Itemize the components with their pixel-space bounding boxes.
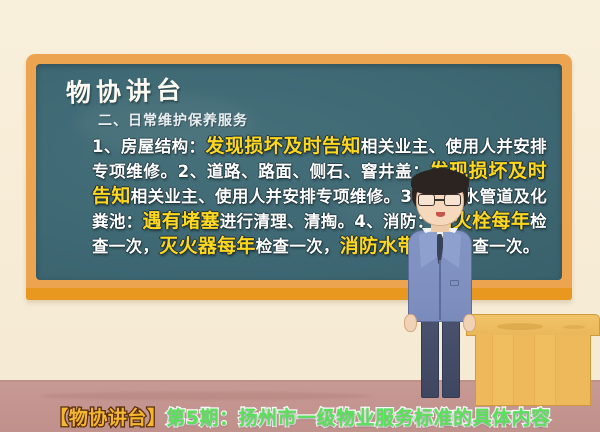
board-text-normal: 检查一次， [256, 237, 340, 256]
board-heading: 物协讲台 [66, 70, 187, 109]
presenter-left-hand [404, 314, 417, 332]
video-frame: 物协讲台 二、日常维护保养服务 1、房屋结构：发现损坏及时告知相关业主、使用人并… [0, 0, 600, 432]
board-text-emphasis: 遇有堵塞 [142, 210, 219, 232]
floor-shadow [40, 392, 370, 400]
presenter-jacket-pocket [450, 280, 459, 286]
presenter-mouth [436, 212, 445, 217]
caption-episode-title: 第5期：扬州市一级物业服务标准的具体内容 [166, 407, 550, 429]
podium-wood-grain [497, 323, 543, 330]
presenter-left-leg [421, 318, 439, 398]
presenter-glasses-right-lens [444, 194, 461, 206]
presenter-figure [392, 168, 488, 398]
board-text-normal: 1、房屋结构： [92, 137, 205, 156]
podium-front-panel [475, 335, 591, 406]
blackboard-frame: 物协讲台 二、日常维护保养服务 1、房屋结构：发现损坏及时告知相关业主、使用人并… [26, 54, 572, 300]
board-text-emphasis: 灭火器每年 [159, 235, 256, 257]
presenter-right-hand [463, 314, 476, 332]
presenter-glasses-left-lens [418, 194, 435, 206]
presenter-glasses-bridge [435, 199, 444, 201]
caption-series-title: 【物协讲台】 [49, 407, 166, 429]
presenter-jacket-seam [439, 260, 441, 320]
presenter-right-leg [442, 318, 460, 398]
board-text-emphasis: 发现损坏及时告知 [205, 135, 360, 157]
podium-wood-grain [563, 325, 585, 329]
board-subtitle: 二、日常维护保养服务 [98, 110, 248, 130]
lower-third-caption: 【物协讲台】第5期：扬州市一级物业服务标准的具体内容 [0, 403, 600, 430]
